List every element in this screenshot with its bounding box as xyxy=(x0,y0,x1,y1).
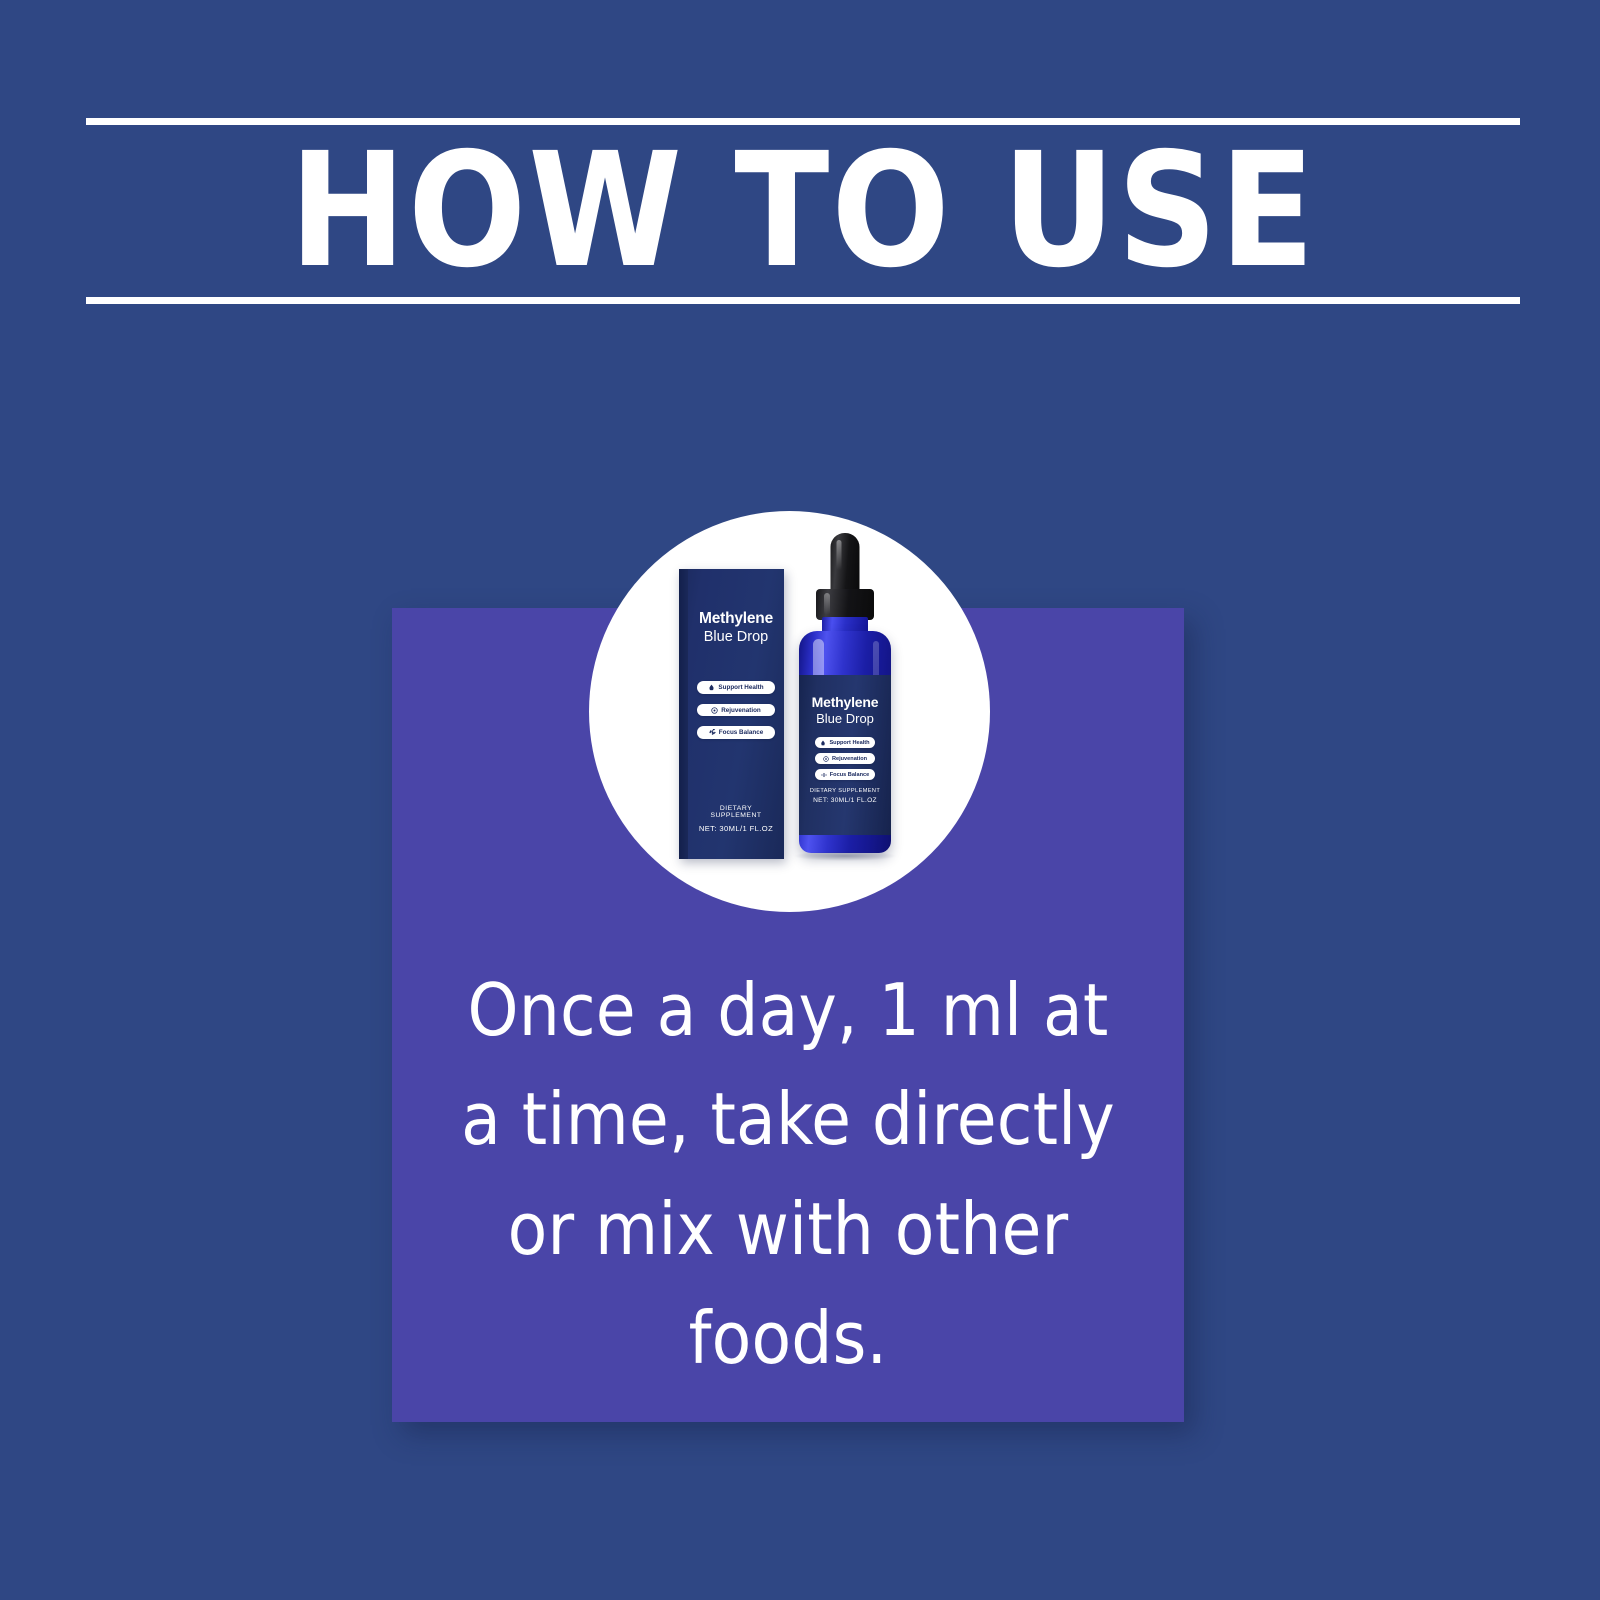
box-footer: DIETARY SUPPLEMENT NET: 30ML/1 FL.OZ xyxy=(695,805,777,833)
box-badge-list: Support Health Rejuvenation xyxy=(695,681,777,739)
bottle-badge-list: Support Health Rejuvenation xyxy=(805,737,885,780)
box-badge-label: Rejuvenation xyxy=(721,707,761,714)
box-badge-rejuvenation: Rejuvenation xyxy=(697,704,775,717)
diamond-icon xyxy=(709,729,716,736)
bottle-drop-shadow xyxy=(793,851,897,861)
bottle-badge-label: Focus Balance xyxy=(830,772,869,778)
product-box-face: Methylene Blue Drop Support Health xyxy=(688,569,784,859)
bottle-supplement-text: DIETARY SUPPLEMENT xyxy=(805,788,885,794)
droplet-icon xyxy=(820,740,826,746)
product-stage: Methylene Blue Drop Support Health xyxy=(589,511,990,912)
header: HOW TO USE xyxy=(86,118,1520,304)
instruction-text: Once a day, 1 ml at a time, take directl… xyxy=(452,956,1124,1394)
bottle-net-text: NET: 30ML/1 FL.OZ xyxy=(805,797,885,804)
bottle-badge-focus-balance: Focus Balance xyxy=(815,769,875,780)
box-badge-focus-balance: Focus Balance xyxy=(697,726,775,739)
bottle-body: Methylene Blue Drop Support Health xyxy=(799,631,891,853)
target-icon xyxy=(823,756,829,762)
bottle-badge-label: Support Health xyxy=(829,740,869,746)
target-icon xyxy=(711,707,718,714)
box-brand-line2: Blue Drop xyxy=(695,630,777,645)
product-image-circle: Methylene Blue Drop Support Health xyxy=(589,511,990,912)
dropper-bulb xyxy=(831,533,860,595)
box-badge-support-health: Support Health xyxy=(697,681,775,694)
page-title: HOW TO USE xyxy=(100,132,1505,290)
bottle-badge-rejuvenation: Rejuvenation xyxy=(815,753,875,764)
box-supplement-text: DIETARY SUPPLEMENT xyxy=(695,805,777,819)
bottle-brand-line1: Methylene xyxy=(805,695,885,710)
droplet-icon xyxy=(708,684,715,691)
product-box: Methylene Blue Drop Support Health xyxy=(679,569,784,859)
title-rule-bottom xyxy=(86,297,1520,304)
bottle-footer: DIETARY SUPPLEMENT NET: 30ML/1 FL.OZ xyxy=(805,788,885,804)
bottle-badge-support-health: Support Health xyxy=(815,737,875,748)
dropper-cap xyxy=(816,589,874,620)
bottle-badge-label: Rejuvenation xyxy=(832,756,867,762)
diamond-icon xyxy=(821,772,827,778)
box-brand-line1: Methylene xyxy=(695,611,777,627)
box-badge-label: Support Health xyxy=(718,684,763,691)
box-net-text: NET: 30ML/1 FL.OZ xyxy=(695,824,777,833)
box-brand-block: Methylene Blue Drop xyxy=(695,611,777,645)
bottle-brand-line2: Blue Drop xyxy=(805,712,885,726)
box-badge-label: Focus Balance xyxy=(719,729,763,736)
bottle-label: Methylene Blue Drop Support Health xyxy=(799,675,891,835)
product-bottle: Methylene Blue Drop Support Health xyxy=(785,533,905,863)
